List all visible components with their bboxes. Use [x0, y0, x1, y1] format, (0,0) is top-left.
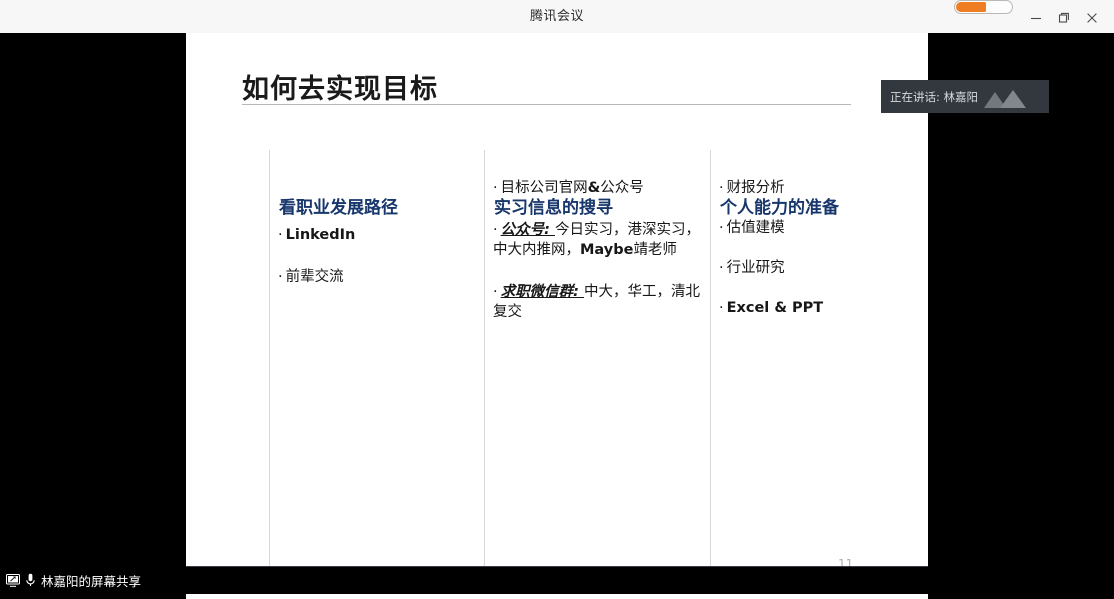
bullet-dot: ·	[278, 227, 283, 243]
active-speaker-overlay: 正在讲话: 林嘉阳	[881, 80, 1049, 113]
bullet-dot: ·	[719, 300, 724, 316]
slide-column-1: 看职业发展路径 ·LinkedIn·前辈交流	[269, 150, 484, 576]
column-body: ·目标公司官网&公众号·公众号: 今日实习，港深实习，中大内推网，Maybe靖老…	[493, 178, 706, 344]
screen-share-status: 林嘉阳的屏幕共享	[6, 570, 141, 590]
bullet-dot: ·	[278, 269, 283, 285]
minimize-icon[interactable]	[1022, 8, 1050, 28]
orange-progress-capsule[interactable]	[954, 0, 1013, 14]
bullet-text: Excel & PPT	[727, 300, 824, 316]
bullet-item: ·估值建模	[719, 218, 875, 238]
bottom-status-bar: 林嘉阳的屏幕共享	[0, 566, 1114, 594]
bullet-dot: ·	[719, 220, 724, 236]
bottom-bar-divider	[186, 566, 928, 567]
bullet-text: Maybe	[580, 242, 633, 258]
active-speaker-label: 正在讲话: 林嘉阳	[890, 89, 978, 105]
bullet-text: 公众号	[600, 180, 644, 196]
maximize-icon[interactable]	[1050, 8, 1078, 28]
bullet-item: ·LinkedIn	[278, 225, 480, 245]
bullet-text: 前辈交流	[286, 269, 344, 285]
bullet-dot: ·	[719, 180, 724, 196]
tencent-meeting-window: 腾讯会议 如何去实现目标	[0, 0, 1114, 594]
bullet-dot: ·	[719, 260, 724, 276]
shared-screen-stage: 如何去实现目标 看职业发展路径 ·LinkedIn·前辈交流 实习信息的搜寻 ·…	[0, 33, 1114, 566]
title-divider	[242, 104, 851, 105]
bullet-dot: ·	[493, 284, 498, 300]
microphone-icon	[25, 573, 36, 587]
bullet-text: 财报分析	[727, 180, 785, 196]
column-body: ·LinkedIn·前辈交流	[278, 225, 480, 309]
bullet-item: ·公众号: 今日实习，港深实习，中大内推网，Maybe靖老师	[493, 220, 706, 260]
bullet-dot: ·	[493, 222, 498, 238]
window-title: 腾讯会议	[0, 0, 1114, 33]
bullet-item: ·Excel & PPT	[719, 298, 875, 318]
slide-title: 如何去实现目标	[242, 67, 438, 106]
bullet-text: &	[588, 180, 601, 196]
bullet-item: ·财报分析	[719, 178, 875, 198]
bullet-text: 估值建模	[727, 220, 785, 236]
bullet-text: LinkedIn	[286, 227, 356, 243]
column-body: ·财报分析·估值建模·行业研究·Excel & PPT	[719, 178, 875, 338]
presentation-slide: 如何去实现目标 看职业发展路径 ·LinkedIn·前辈交流 实习信息的搜寻 ·…	[186, 33, 928, 566]
column-heading: 看职业发展路径	[279, 193, 398, 218]
capsule-fill	[956, 2, 986, 12]
slide-column-2: 实习信息的搜寻 ·目标公司官网&公众号·公众号: 今日实习，港深实习，中大内推网…	[484, 150, 710, 576]
window-controls	[1022, 8, 1106, 28]
slide-columns: 看职业发展路径 ·LinkedIn·前辈交流 实习信息的搜寻 ·目标公司官网&公…	[269, 150, 879, 576]
bullet-item: ·前辈交流	[278, 267, 480, 287]
bullet-dot: ·	[493, 180, 498, 196]
bullet-text: 行业研究	[727, 260, 785, 276]
bullet-item: ·行业研究	[719, 258, 875, 278]
bullet-text: 目标公司官网	[501, 180, 588, 196]
screen-share-icon	[6, 574, 20, 587]
bullet-text: 求职微信群:	[501, 284, 584, 300]
speaker-video-thumbnail[interactable]	[982, 84, 1040, 110]
bullet-item: ·目标公司官网&公众号	[493, 178, 706, 198]
screen-share-label: 林嘉阳的屏幕共享	[41, 571, 141, 590]
bullet-text: 公众号:	[501, 222, 555, 238]
close-icon[interactable]	[1078, 8, 1106, 28]
slide-column-3: 个人能力的准备 ·财报分析·估值建模·行业研究·Excel & PPT	[710, 150, 879, 576]
bullet-text: 靖老师	[633, 242, 677, 258]
window-title-bar: 腾讯会议	[0, 0, 1114, 34]
bullet-item: ·求职微信群: 中大，华工，清北复交	[493, 282, 706, 322]
